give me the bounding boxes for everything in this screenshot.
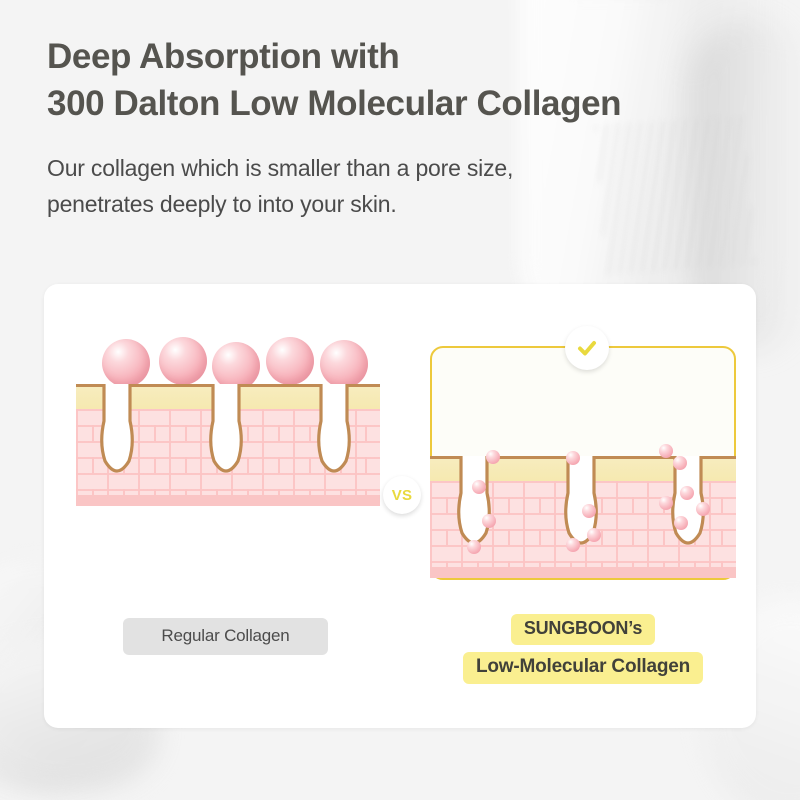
collagen-particle-small xyxy=(680,486,694,500)
page-title: Deep Absorption with 300 Dalton Low Mole… xyxy=(47,34,767,127)
page-root: Deep Absorption with 300 Dalton Low Mole… xyxy=(0,0,800,800)
collagen-particle-small xyxy=(659,496,673,510)
brand-caption: SUNGBOON’s xyxy=(511,614,655,645)
collagen-particle-large xyxy=(159,337,207,385)
low-molecular-caption: Low-Molecular Collagen xyxy=(463,652,703,684)
collagen-particle-small xyxy=(486,450,500,464)
collagen-particle-small xyxy=(467,540,481,554)
page-subtitle: Our collagen which is smaller than a por… xyxy=(47,151,767,222)
check-badge xyxy=(565,326,609,370)
low-molecular-caption-group: SUNGBOON’s Low-Molecular Collagen xyxy=(430,614,736,684)
collagen-particle-small xyxy=(582,504,596,518)
collagen-particle-small xyxy=(696,502,710,516)
pore-channel xyxy=(206,384,246,491)
collagen-particle-large xyxy=(212,342,260,390)
comparison-card: VS Regular Collagen SUNGBOON’s Low-Molec… xyxy=(44,284,756,728)
headings-block: Deep Absorption with 300 Dalton Low Mole… xyxy=(47,34,767,222)
collagen-particle-small xyxy=(472,480,486,494)
collagen-particle-small xyxy=(674,516,688,530)
skin-cross-section-regular xyxy=(76,384,380,506)
collagen-particle-small xyxy=(566,538,580,552)
collagen-particle-large xyxy=(102,339,150,387)
collagen-particle-small xyxy=(673,456,687,470)
regular-collagen-panel xyxy=(76,384,380,506)
subcutis-layer xyxy=(76,495,380,506)
collagen-particle-small xyxy=(659,444,673,458)
collagen-particle-small xyxy=(587,528,601,542)
subcutis-layer xyxy=(430,567,736,578)
collagen-particle-small xyxy=(566,451,580,465)
pore-channel xyxy=(97,384,137,491)
collagen-particle-small xyxy=(482,514,496,528)
skin-cross-section-low-molecular xyxy=(430,456,736,578)
collagen-particle-large xyxy=(266,337,314,385)
collagen-particle-large xyxy=(320,340,368,388)
regular-collagen-caption: Regular Collagen xyxy=(123,618,328,655)
vs-badge: VS xyxy=(383,476,421,514)
pore-channel xyxy=(314,384,354,491)
check-icon xyxy=(575,336,599,360)
